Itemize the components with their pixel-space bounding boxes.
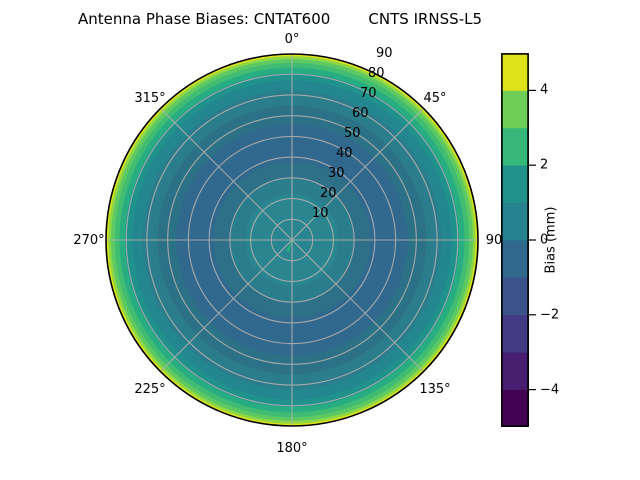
theta-tick-label-135: 135°	[405, 382, 465, 397]
r-tick-label-60: 60	[352, 106, 369, 121]
colorbar-segment	[501, 128, 529, 166]
colorbar-segment	[501, 90, 529, 128]
colorbar-axis-label: Bias (mm)	[544, 207, 559, 274]
polar-grid	[106, 54, 479, 427]
colorbar-tick-label-2: 2	[540, 158, 548, 173]
colorbar-segment	[501, 352, 529, 390]
colorbar-canvas	[501, 53, 529, 427]
colorbar-segment	[501, 390, 529, 427]
theta-tick-label-0: 0°	[262, 32, 322, 47]
r-tick-label-70: 70	[360, 86, 377, 101]
colorbar-segment	[501, 315, 529, 353]
colorbar-axes	[501, 53, 529, 427]
r-tick-label-90: 90	[376, 46, 393, 61]
colorbar-segment	[501, 165, 529, 203]
colorbar-segment-group	[501, 53, 529, 427]
theta-tick-label-270: 270°	[59, 233, 119, 248]
r-tick-label-30: 30	[328, 166, 345, 181]
colorbar-tick-label--4: −4	[540, 382, 559, 397]
colorbar-segment	[501, 240, 529, 278]
matplotlib-figure: Antenna Phase Biases: CNTAT600 CNTS IRNS…	[0, 0, 640, 480]
polar-plot-axes	[105, 53, 479, 427]
colorbar-segment	[501, 53, 529, 91]
r-tick-label-10: 10	[312, 206, 329, 221]
r-tick-label-80: 80	[368, 66, 385, 81]
colorbar-tick-label--2: −2	[540, 307, 559, 322]
theta-tick-label-225: 225°	[120, 382, 180, 397]
theta-tick-label-315: 315°	[120, 91, 180, 106]
r-tick-label-40: 40	[336, 146, 353, 161]
theta-tick-label-180: 180°	[262, 441, 322, 456]
r-tick-label-50: 50	[344, 126, 361, 141]
r-tick-label-20: 20	[320, 186, 337, 201]
colorbar-tick-label-4: 4	[540, 83, 548, 98]
polar-plot-canvas	[105, 53, 479, 427]
colorbar-segment	[501, 277, 529, 315]
colorbar-segment	[501, 203, 529, 241]
page-title: Antenna Phase Biases: CNTAT600 CNTS IRNS…	[0, 10, 560, 28]
theta-tick-label-45: 45°	[405, 91, 465, 106]
